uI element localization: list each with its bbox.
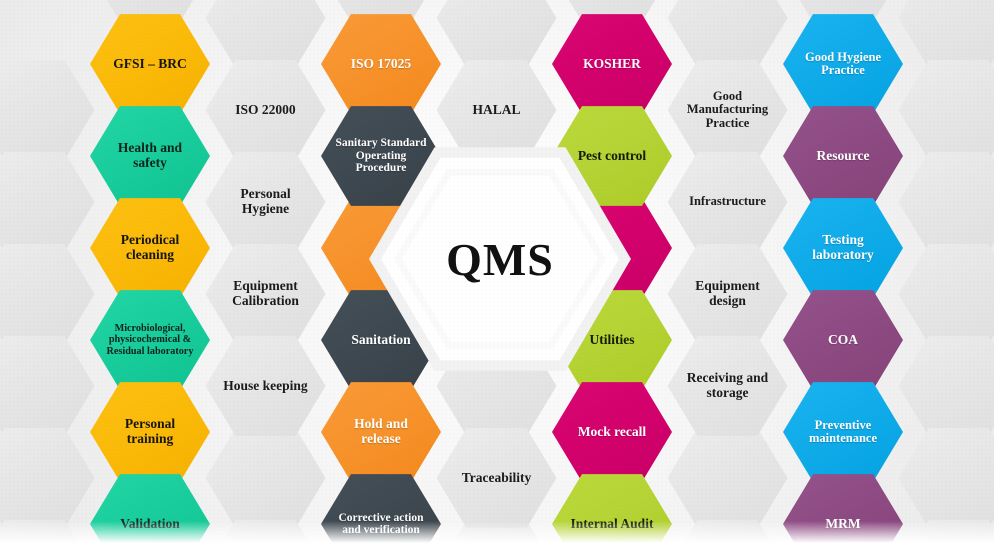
hexagon-filler [0, 334, 95, 438]
hexagon-label: ISO 17025 [334, 57, 428, 72]
hexagon-personal-hygiene[interactable]: Personal Hygiene [206, 150, 326, 254]
hexagon-filler [0, 150, 95, 254]
hexagon-hold-and-release[interactable]: Hold and release [321, 380, 441, 484]
hexagon-filler [0, 518, 95, 547]
qms-title: QMS [446, 233, 554, 286]
hexagon-filler [437, 334, 557, 438]
hexagon-testing-laboratory[interactable]: Testing laboratory [783, 196, 903, 300]
hexagon-mock-recall[interactable]: Mock recall [552, 380, 672, 484]
hexagon-label: HALAL [450, 103, 544, 118]
hexagon-label: Microbiological, physicochemical & Resid… [103, 323, 197, 356]
hexagon-equipment-calibration[interactable]: Equipment Calibration [206, 242, 326, 346]
hexagon-filler [899, 242, 994, 346]
hexagon-label: Receiving and storage [681, 371, 775, 400]
hexagon-label: Utilities [565, 333, 659, 348]
hexagon-filler [899, 334, 994, 438]
hexagon-label: Preventive maintenance [796, 419, 890, 446]
hexagon-label: Equipment design [681, 279, 775, 308]
hexagon-label: Periodical cleaning [103, 233, 197, 262]
hexagon-good-manufacturing-practice[interactable]: Good Manufacturing Practice [668, 58, 788, 162]
hexagon-label: Good Hygiene Practice [796, 51, 890, 78]
hexagon-label: Hold and release [334, 417, 428, 446]
hexagon-label: Sanitation [334, 333, 428, 348]
hexagon-filler [668, 426, 788, 530]
hexagon-gfsi-brc[interactable]: GFSI – BRC [90, 12, 210, 116]
hexagon-infrastructure[interactable]: Infrastructure [668, 150, 788, 254]
hexagon-filler [206, 0, 326, 70]
hexagon-label: Infrastructure [681, 195, 775, 209]
hexagon-filler [0, 242, 95, 346]
hexagon-filler [206, 518, 326, 547]
hexagon-coa[interactable]: COA [783, 288, 903, 392]
hexagon-iso-22000[interactable]: ISO 22000 [206, 58, 326, 162]
hexagon-label: Mock recall [565, 425, 659, 440]
hexagon-microbiological-physicochemical-residual-laboratory[interactable]: Microbiological, physicochemical & Resid… [90, 288, 210, 392]
hexagon-halal[interactable]: HALAL [437, 58, 557, 162]
hexagon-label: Health and safety [103, 141, 197, 170]
hexagon-validation[interactable]: Validation [90, 472, 210, 547]
hexagon-filler [437, 0, 557, 70]
hexagon-filler [899, 0, 994, 70]
hexagon-filler [668, 0, 788, 70]
hexagon-label: Equipment Calibration [219, 279, 313, 308]
hexagon-label: Corrective action and verification [334, 512, 428, 537]
hexagon-pest-control[interactable]: Pest control [552, 104, 672, 208]
hexagon-filler [206, 426, 326, 530]
hexagon-internal-audit[interactable]: Internal Audit [552, 472, 672, 547]
hexagon-filler [899, 58, 994, 162]
hexagon-label: Resource [796, 149, 890, 164]
hexagon-iso-17025[interactable]: ISO 17025 [321, 12, 441, 116]
hexagon-diagram: GFSI – BRCISO 22000ISO 17025HALALKOSHERG… [0, 0, 994, 547]
hexagon-label: Good Manufacturing Practice [681, 90, 775, 131]
hexagon-label: Sanitary Standard Operating Procedure [334, 137, 428, 174]
hexagon-label: COA [796, 333, 890, 348]
hexagon-traceability[interactable]: Traceability [437, 426, 557, 530]
hexagon-label: Testing laboratory [796, 233, 890, 262]
hexagon-filler [668, 518, 788, 547]
hexagon-label: Internal Audit [565, 517, 659, 532]
hexagon-label: Validation [103, 517, 197, 532]
hexagon-corrective-action-and-verification[interactable]: Corrective action and verification [321, 472, 441, 547]
hexagon-label: Pest control [565, 149, 659, 164]
hexagon-filler [899, 518, 994, 547]
hexagon-mrm[interactable]: MRM [783, 472, 903, 547]
hexagon-house-keeping[interactable]: House keeping [206, 334, 326, 438]
hexagon-filler [0, 426, 95, 530]
hexagon-label: MRM [796, 517, 890, 532]
hexagon-label: Personal Hygiene [219, 187, 313, 216]
hexagon-periodical-cleaning[interactable]: Periodical cleaning [90, 196, 210, 300]
hexagon-kosher[interactable]: KOSHER [552, 12, 672, 116]
hexagon-label: GFSI – BRC [103, 57, 197, 72]
hexagon-label: Traceability [450, 471, 544, 486]
hexagon-resource[interactable]: Resource [783, 104, 903, 208]
hexagon-filler [0, 58, 95, 162]
hexagon-preventive-maintenance[interactable]: Preventive maintenance [783, 380, 903, 484]
hexagon-label: House keeping [219, 379, 313, 394]
hexagon-label: KOSHER [565, 57, 659, 72]
hexagon-filler [899, 426, 994, 530]
hexagon-health-and-safety[interactable]: Health and safety [90, 104, 210, 208]
hexagon-good-hygiene-practice[interactable]: Good Hygiene Practice [783, 12, 903, 116]
hexagon-sanitary-standard-operating-procedure[interactable]: Sanitary Standard Operating Procedure [321, 104, 441, 208]
hexagon-sanitation[interactable]: Sanitation [321, 288, 441, 392]
hexagon-label: Personal training [103, 417, 197, 446]
hexagon-personal-training[interactable]: Personal training [90, 380, 210, 484]
hexagon-equipment-design[interactable]: Equipment design [668, 242, 788, 346]
hexagon-filler [899, 150, 994, 254]
hexagon-label: ISO 22000 [219, 103, 313, 118]
hexagon-receiving-and-storage[interactable]: Receiving and storage [668, 334, 788, 438]
